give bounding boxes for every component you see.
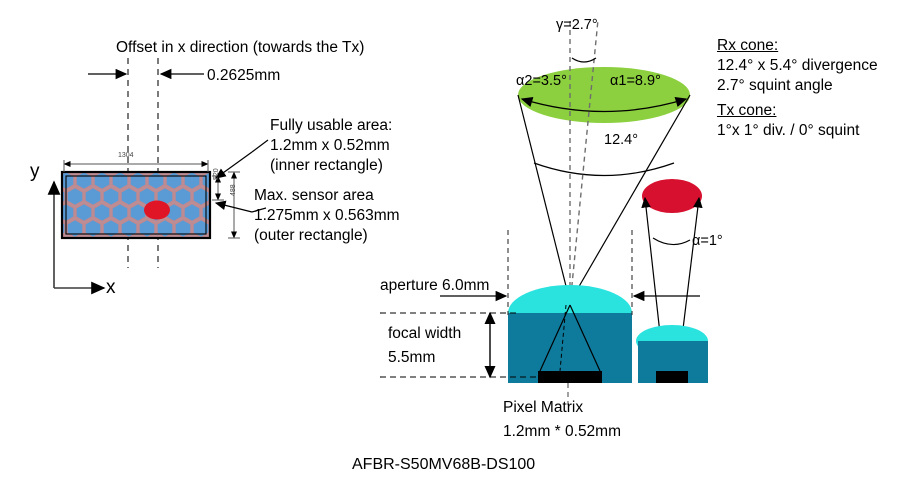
rx-cone [518, 20, 690, 305]
aperture-label: aperture 6.0mm [380, 276, 489, 296]
usable-area-line2: 1.2mm x 0.52mm [270, 136, 392, 156]
sensor-width-dimension: 1304 [118, 152, 134, 161]
sensor-outer-height-dimension: 488 [230, 184, 239, 196]
figure-canvas: Offset in x direction (towards the Tx) 0… [0, 0, 900, 496]
cone-spec-block: Rx cone: 12.4° x 5.4° divergence 2.7° sq… [717, 36, 878, 141]
tx-cone-divergence: 1°x 1° div. / 0° squint [717, 121, 878, 141]
rx-cone-divergence: 12.4° x 5.4° divergence [717, 56, 878, 76]
gamma-angle-label: γ=2.7° [556, 16, 598, 35]
tx-alpha-angle-label: α=1° [692, 232, 723, 251]
max-sensor-line3: (outer rectangle) [254, 226, 400, 246]
rx-device [508, 285, 632, 383]
pixel-matrix-caption-line1: Pixel Matrix [503, 398, 583, 418]
rx-cone-heading: Rx cone: [717, 36, 878, 56]
focal-width-label-line1: focal width [388, 324, 461, 344]
rx-cone-squint: 2.7° squint angle [717, 76, 878, 96]
usable-area-line1: Fully usable area: [270, 116, 392, 136]
tx-device [636, 325, 708, 383]
usable-area-line3: (inner rectangle) [270, 156, 392, 176]
focal-width-label-line2: 5.5mm [388, 348, 435, 368]
alpha2-angle-label: α2=3.5° [516, 72, 567, 91]
figure-caption: AFBR-S50MV68B-DS100 [352, 455, 535, 475]
sensor-inner-height-dimension: 520 [213, 168, 222, 180]
pixel-matrix-caption-line2: 1.2mm * 0.52mm [503, 422, 621, 442]
y-axis-label: y [30, 160, 40, 184]
rx-squint-axis [570, 20, 598, 305]
offset-value-label: 0.2625mm [207, 66, 280, 86]
max-sensor-line2: 1.275mm x 0.563mm [254, 206, 400, 226]
max-sensor-area-callout: Max. sensor area 1.275mm x 0.563mm (oute… [254, 186, 400, 245]
alpha1-angle-label: α1=8.9° [610, 72, 661, 91]
active-pixel-marker [144, 201, 170, 220]
tx-cone-heading: Tx cone: [717, 101, 878, 121]
rx-pixel-matrix-bar [538, 371, 602, 383]
divergence-angle-label: 12.4° [604, 131, 638, 150]
max-sensor-line1: Max. sensor area [254, 186, 400, 206]
x-axis-label: x [106, 276, 116, 300]
usable-area-callout: Fully usable area: 1.2mm x 0.52mm (inner… [270, 116, 392, 175]
tx-emitter-bar [656, 371, 688, 383]
sensor-pixel-matrix [49, 172, 227, 239]
offset-title: Offset in x direction (towards the Tx) [116, 38, 364, 58]
tx-cone-ellipse [642, 179, 702, 213]
